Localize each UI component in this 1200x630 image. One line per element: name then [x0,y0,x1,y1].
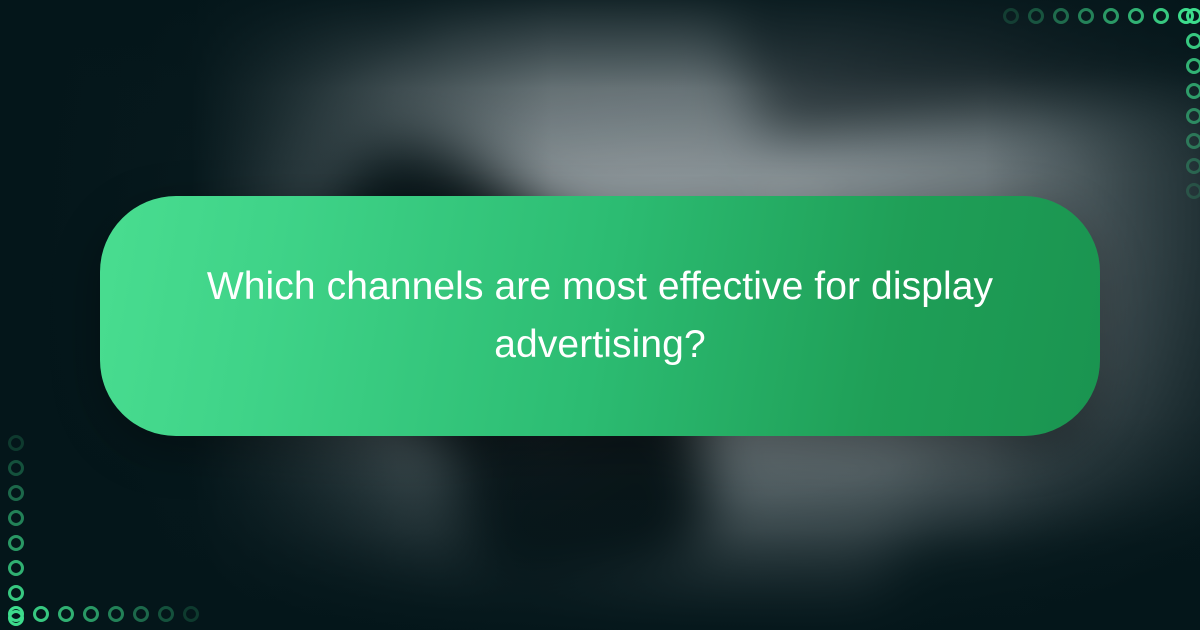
question-title: Which channels are most effective for di… [128,258,1072,374]
decorative-ring-icon [8,435,24,451]
decorative-ring-icon [1186,33,1200,49]
decorative-ring-icon [33,606,49,622]
decorative-ring-icon [8,460,24,476]
decorative-ring-icon [1103,8,1119,24]
decorative-ring-icon [1003,8,1019,24]
decorative-ring-icon [1186,108,1200,124]
decorative-ring-icon [1153,8,1169,24]
decorative-ring-icon [58,606,74,622]
decorative-ring-icon [8,510,24,526]
decorative-ring-icon [1186,83,1200,99]
decorative-ring-icon [108,606,124,622]
decorative-ring-icon [158,606,174,622]
decorative-ring-icon [1186,133,1200,149]
decorative-ring-icon [1186,58,1200,74]
decorative-ring-icon [133,606,149,622]
social-card-canvas: Which channels are most effective for di… [0,0,1200,630]
decorative-ring-icon [1128,8,1144,24]
decorative-dot-column-right [1181,3,1200,203]
decorative-ring-icon [8,485,24,501]
decorative-ring-icon [1186,8,1200,24]
decorative-ring-icon [183,606,199,622]
decorative-ring-icon [8,610,24,626]
decorative-ring-icon [1186,158,1200,174]
decorative-ring-icon [1078,8,1094,24]
decorative-ring-icon [83,606,99,622]
decorative-ring-icon [1186,183,1200,199]
decorative-ring-icon [8,585,24,601]
decorative-dot-row-bottom-left [3,601,203,626]
decorative-ring-icon [1053,8,1069,24]
question-card: Which channels are most effective for di… [100,196,1100,436]
decorative-ring-icon [8,560,24,576]
decorative-ring-icon [8,535,24,551]
decorative-dot-row-top-right [998,3,1198,28]
decorative-ring-icon [1028,8,1044,24]
decorative-dot-column-left [3,430,28,630]
